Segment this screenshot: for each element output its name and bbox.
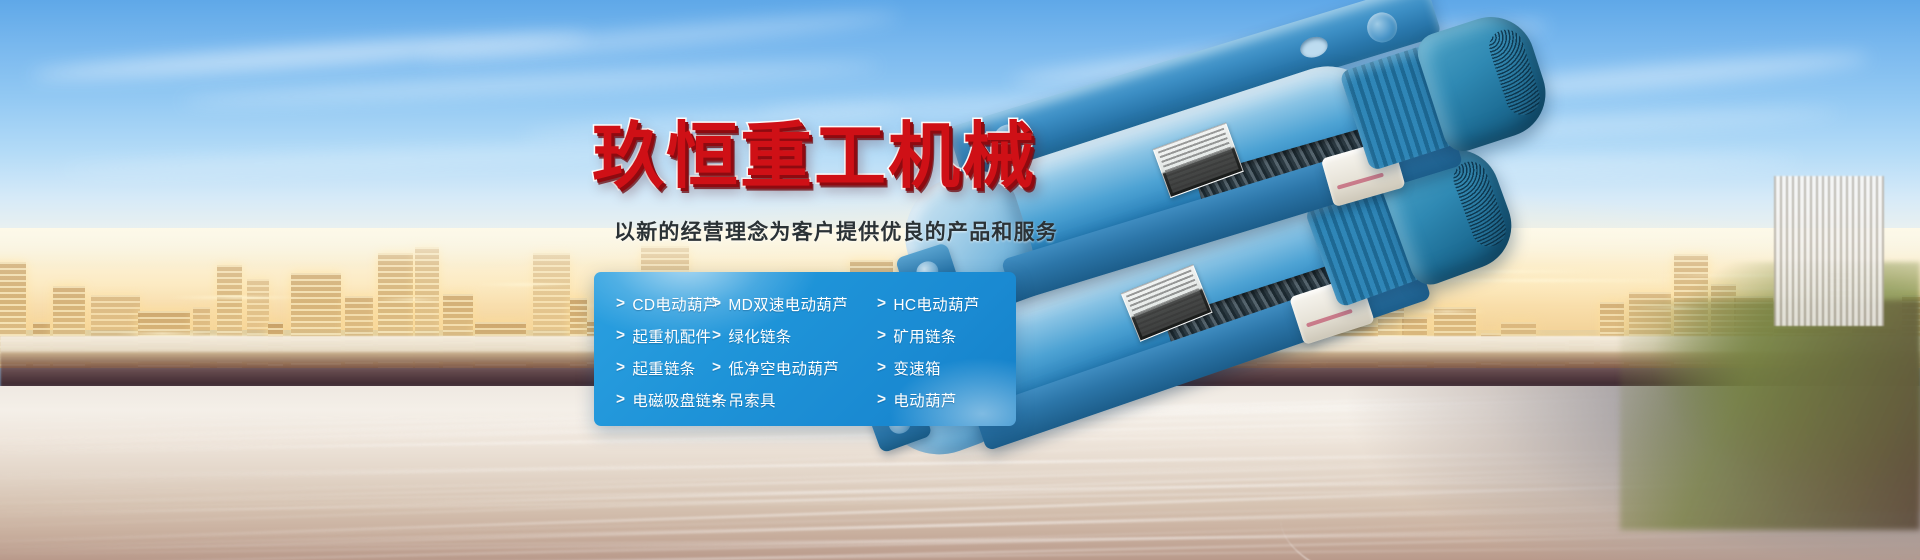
product-link-2[interactable]: >MD双速电动葫芦	[712, 293, 867, 315]
product-link-9[interactable]: >变速箱	[867, 357, 941, 379]
product-link-label: 低净空电动葫芦	[728, 357, 839, 379]
chevron-right-icon: >	[616, 391, 625, 409]
chevron-right-icon: >	[712, 327, 721, 345]
banner-subheadline: 以新的经营理念为客户提供优良的产品和服务	[614, 216, 1058, 246]
product-link-label: MD双速电动葫芦	[728, 293, 848, 315]
product-link-12[interactable]: >电动葫芦	[867, 389, 957, 411]
banner-headline: 玖恒重工机械	[592, 120, 1036, 192]
product-link-label: 吊索具	[728, 389, 775, 411]
light-streak	[169, 296, 303, 299]
chevron-right-icon: >	[877, 391, 886, 409]
product-link-10[interactable]: >电磁吸盘链条	[594, 389, 712, 411]
chevron-right-icon: >	[877, 295, 886, 313]
hillside-foliage	[1620, 300, 1920, 530]
product-link-label: 绿化链条	[728, 325, 791, 347]
beam-hole	[1298, 34, 1331, 61]
chevron-right-icon: >	[712, 391, 721, 409]
product-links-list: >CD电动葫芦>MD双速电动葫芦>HC电动葫芦>起重机配件>绿化链条>矿用链条>…	[594, 288, 1016, 416]
product-link-label: 矿用链条	[893, 325, 956, 347]
product-link-row: >起重链条>低净空电动葫芦>变速箱	[594, 352, 1016, 384]
chevron-right-icon: >	[616, 359, 625, 377]
product-links-panel: >CD电动葫芦>MD双速电动葫芦>HC电动葫芦>起重机配件>绿化链条>矿用链条>…	[594, 272, 1016, 426]
chevron-right-icon: >	[877, 359, 886, 377]
light-streak	[374, 298, 449, 301]
product-link-1[interactable]: >CD电动葫芦	[594, 293, 712, 315]
promo-banner: 玖恒重工机械 以新的经营理念为客户提供优良的产品和服务 >CD电动葫芦>MD双速…	[0, 0, 1920, 560]
product-link-label: HC电动葫芦	[893, 293, 979, 315]
chevron-right-icon: >	[877, 327, 886, 345]
office-tower	[1774, 176, 1884, 326]
product-link-7[interactable]: >起重链条	[594, 357, 712, 379]
chevron-right-icon: >	[616, 327, 625, 345]
product-link-label: CD电动葫芦	[632, 293, 718, 315]
product-link-label: 起重机配件	[632, 325, 711, 347]
product-link-row: >CD电动葫芦>MD双速电动葫芦>HC电动葫芦	[594, 288, 1016, 320]
chevron-right-icon: >	[616, 295, 625, 313]
product-link-row: >起重机配件>绿化链条>矿用链条	[594, 320, 1016, 352]
product-link-label: 变速箱	[893, 357, 940, 379]
motor-vent-grille	[1485, 25, 1545, 119]
product-link-label: 起重链条	[632, 357, 695, 379]
product-link-4[interactable]: >起重机配件	[594, 325, 712, 347]
product-link-6[interactable]: >矿用链条	[867, 325, 957, 347]
chevron-right-icon: >	[712, 295, 721, 313]
product-link-label: 电动葫芦	[893, 389, 956, 411]
chevron-right-icon: >	[712, 359, 721, 377]
light-streak	[477, 283, 572, 286]
product-link-11[interactable]: >吊索具	[712, 389, 867, 411]
product-link-row: >电磁吸盘链条>吊索具>电动葫芦	[594, 384, 1016, 416]
product-link-5[interactable]: >绿化链条	[712, 325, 867, 347]
product-link-8[interactable]: >低净空电动葫芦	[712, 357, 867, 379]
product-link-3[interactable]: >HC电动葫芦	[867, 293, 980, 315]
